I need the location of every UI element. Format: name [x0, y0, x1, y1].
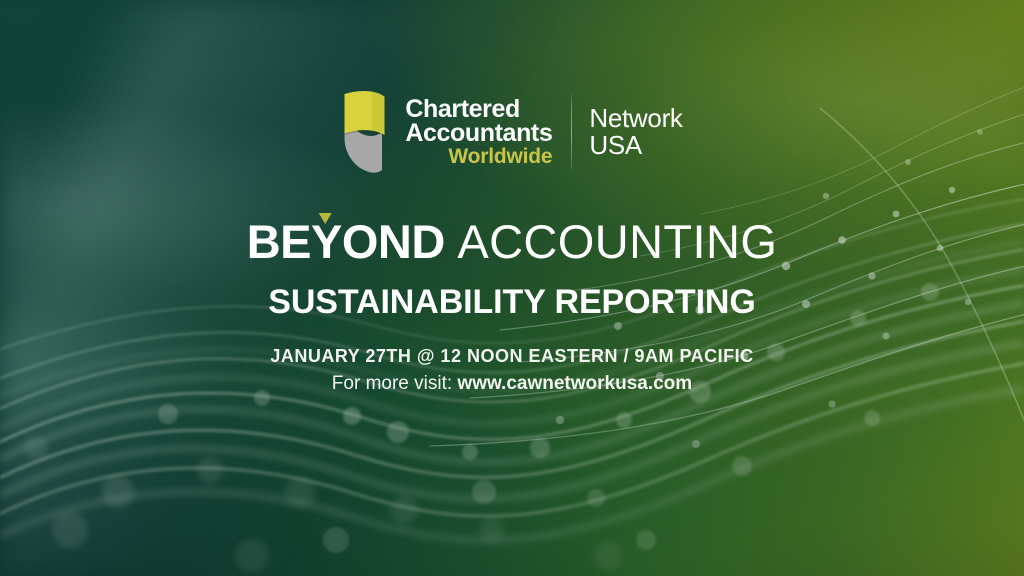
logo-network-usa: Network USA: [589, 105, 682, 159]
visit-label: For more visit:: [332, 373, 458, 394]
logo-network-line-usa: USA: [589, 132, 682, 159]
logo-wordmark-line-accountants: Accountants: [405, 121, 552, 146]
headline-bold-word: BEYOND: [247, 215, 445, 268]
logo-wordmark-line-chartered: Chartered: [405, 97, 552, 122]
logo-wordmark: Chartered Accountants Worldwide: [405, 97, 552, 168]
event-datetime: JANUARY 27TH @ 12 NOON EASTERN / 9AM PAC…: [270, 346, 753, 367]
website-url[interactable]: www.cawnetworkusa.com: [457, 373, 692, 394]
subheadline: SUSTAINABILITY REPORTING: [268, 283, 755, 322]
logo-network-line-network: Network: [589, 105, 682, 132]
headline-light-word: ACCOUNTING: [457, 215, 777, 268]
poster-canvas: Chartered Accountants Worldwide Network …: [0, 0, 1024, 576]
visit-line: For more visit: www.cawnetworkusa.com: [332, 373, 692, 395]
logo-divider: [571, 93, 572, 171]
headline: BEYOND ACCOUNTING: [247, 214, 778, 269]
logo-lockup[interactable]: Chartered Accountants Worldwide Network …: [341, 84, 682, 180]
logo-wordmark-line-worldwide: Worldwide: [405, 147, 552, 168]
chartered-accountants-shield-icon: [341, 88, 393, 176]
poster-content: Chartered Accountants Worldwide Network …: [0, 0, 1024, 576]
